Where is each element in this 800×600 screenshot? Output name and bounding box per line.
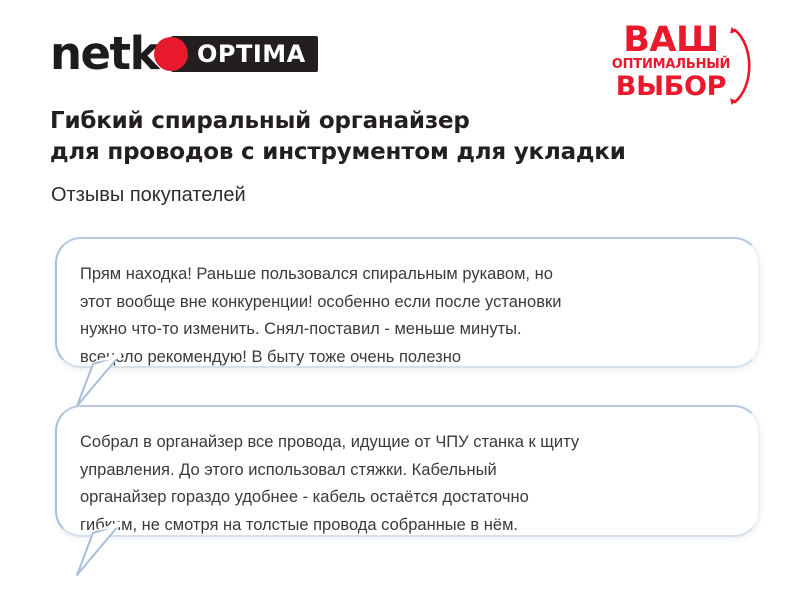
page-title-line-2: для проводов с инструментом для укладки: [50, 137, 740, 168]
product-review-banner: netk OPTIMA ВАШ ОПТИМАЛЬНЫЙ ВЫБОР Гибкий…: [0, 0, 800, 600]
reviews-heading: Отзывы покупателей: [51, 182, 246, 208]
speech-bubble-tail-icon: [73, 525, 135, 577]
brand-logo: netk OPTIMA: [50, 30, 318, 78]
review-line: управления. До этого использовал стяжки.…: [80, 457, 732, 485]
choice-badge-text: ВАШ ОПТИМАЛЬНЫЙ ВЫБОР: [608, 24, 734, 101]
review-bubble: Прям находка! Раньше пользовался спираль…: [55, 237, 760, 368]
brand-wordmark: netk: [50, 31, 158, 77]
review-line: гибким, не смотря на толстые провода соб…: [80, 512, 732, 540]
review-text: Собрал в органайзер все провода, идущие …: [80, 429, 732, 539]
header: netk OPTIMA ВАШ ОПТИМАЛЬНЫЙ ВЫБОР: [0, 0, 800, 108]
optima-plate: OPTIMA: [171, 36, 318, 72]
badge-line-vybor: ВЫБОР: [608, 73, 734, 101]
red-dot-icon: [154, 37, 188, 71]
optima-label: OPTIMA: [197, 42, 306, 66]
review-line: всецело рекомендую! В быту тоже очень по…: [80, 344, 732, 372]
badge-line-vash: ВАШ: [608, 24, 734, 57]
page-title-line-1: Гибкий спиральный органайзер: [50, 106, 740, 137]
speech-bubble-tail-icon: [73, 356, 135, 408]
review-line: Собрал в органайзер все провода, идущие …: [80, 429, 732, 457]
review-line: этот вообще вне конкуренции! особенно ес…: [80, 289, 732, 317]
review-text: Прям находка! Раньше пользовался спираль…: [80, 261, 732, 371]
review-line: нужно что-то изменить. Снял-поставил - м…: [80, 316, 732, 344]
review-bubble: Собрал в органайзер все провода, идущие …: [55, 405, 760, 537]
review-line: органайзер гораздо удобнее - кабель оста…: [80, 484, 732, 512]
page-title: Гибкий спиральный органайзер для проводо…: [50, 106, 740, 168]
choice-badge: ВАШ ОПТИМАЛЬНЫЙ ВЫБОР: [608, 24, 760, 108]
double-arrow-arc-icon: [728, 24, 762, 108]
review-line: Прям находка! Раньше пользовался спираль…: [80, 261, 732, 289]
